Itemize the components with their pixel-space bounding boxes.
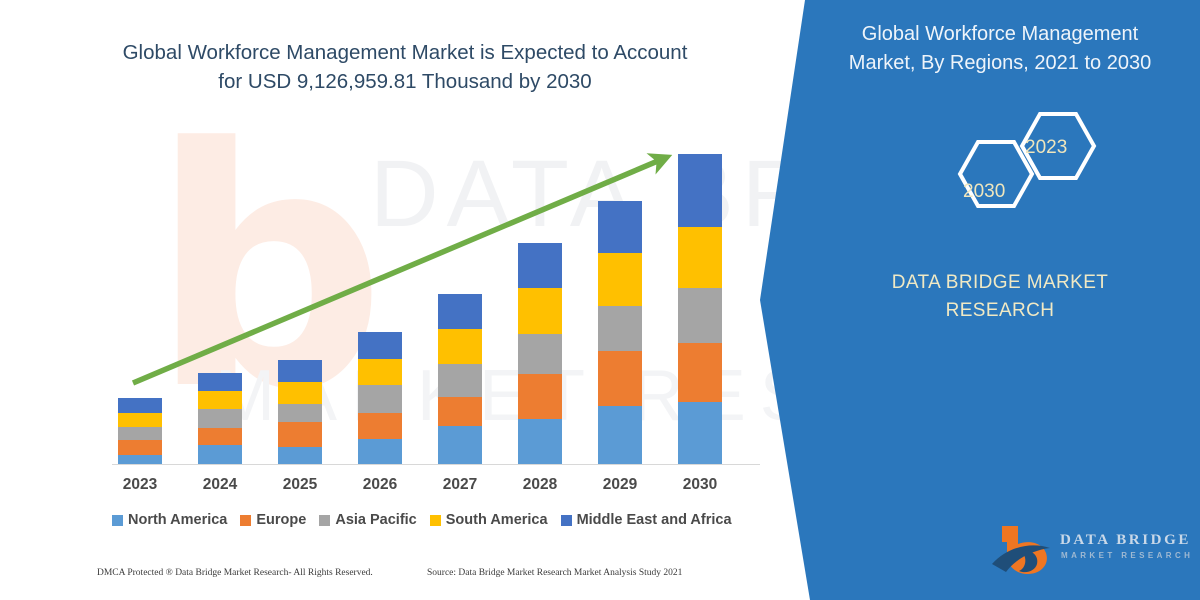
panel-title-line-2: Market, By Regions, 2021 to 2030 — [830, 49, 1170, 78]
logo-text-primary: DATA BRIDGE — [1060, 532, 1191, 549]
legend-swatch-icon — [430, 515, 441, 526]
chart-legend: North AmericaEuropeAsia PacificSouth Ame… — [112, 512, 745, 528]
legend-swatch-icon — [319, 515, 330, 526]
x-axis-label-2029: 2029 — [590, 476, 650, 494]
hexagon-label-2030: 2030 — [963, 181, 1005, 203]
legend-swatch-icon — [240, 515, 251, 526]
legend-item-south-america[interactable]: South America — [430, 512, 548, 528]
x-axis-label-2028: 2028 — [510, 476, 570, 494]
x-axis-label-2023: 2023 — [110, 476, 170, 494]
x-axis-label-2026: 2026 — [350, 476, 410, 494]
growth-arrow-icon — [0, 0, 800, 600]
panel-title: Global Workforce Management Market, By R… — [830, 20, 1170, 78]
x-axis-label-2027: 2027 — [430, 476, 490, 494]
legend-label: North America — [128, 512, 227, 528]
infographic-canvas: b DATA BRIDGE MARKET RESEARCH Global Wor… — [0, 0, 1200, 600]
legend-item-asia-pacific[interactable]: Asia Pacific — [319, 512, 416, 528]
x-axis-label-2025: 2025 — [270, 476, 330, 494]
legend-item-north-america[interactable]: North America — [112, 512, 227, 528]
legend-label: South America — [446, 512, 548, 528]
hexagon-pair-icon — [920, 108, 1120, 228]
x-axis-label-2024: 2024 — [190, 476, 250, 494]
legend-label: Middle East and Africa — [577, 512, 732, 528]
legend-swatch-icon — [561, 515, 572, 526]
footer-copyright: DMCA Protected ® Data Bridge Market Rese… — [97, 568, 373, 578]
x-axis-labels: 20232024202520262027202820292030 — [112, 476, 760, 502]
legend-item-europe[interactable]: Europe — [240, 512, 306, 528]
legend-swatch-icon — [112, 515, 123, 526]
panel-title-line-1: Global Workforce Management — [830, 20, 1170, 49]
brand-name-line-1: DATA BRIDGE MARKET — [830, 272, 1170, 294]
legend-item-middle-east-and-africa[interactable]: Middle East and Africa — [561, 512, 732, 528]
logo-text-secondary: MARKET RESEARCH — [1061, 551, 1193, 560]
footer-source: Source: Data Bridge Market Research Mark… — [427, 568, 682, 578]
brand-name-line-2: RESEARCH — [830, 300, 1170, 322]
chart-plot-area: 20232024202520262027202820292030 North A… — [0, 0, 800, 600]
legend-label: Europe — [256, 512, 306, 528]
legend-label: Asia Pacific — [335, 512, 416, 528]
hexagon-label-2023: 2023 — [1025, 137, 1067, 159]
x-axis-label-2030: 2030 — [670, 476, 730, 494]
data-bridge-logo-icon — [988, 520, 1188, 580]
